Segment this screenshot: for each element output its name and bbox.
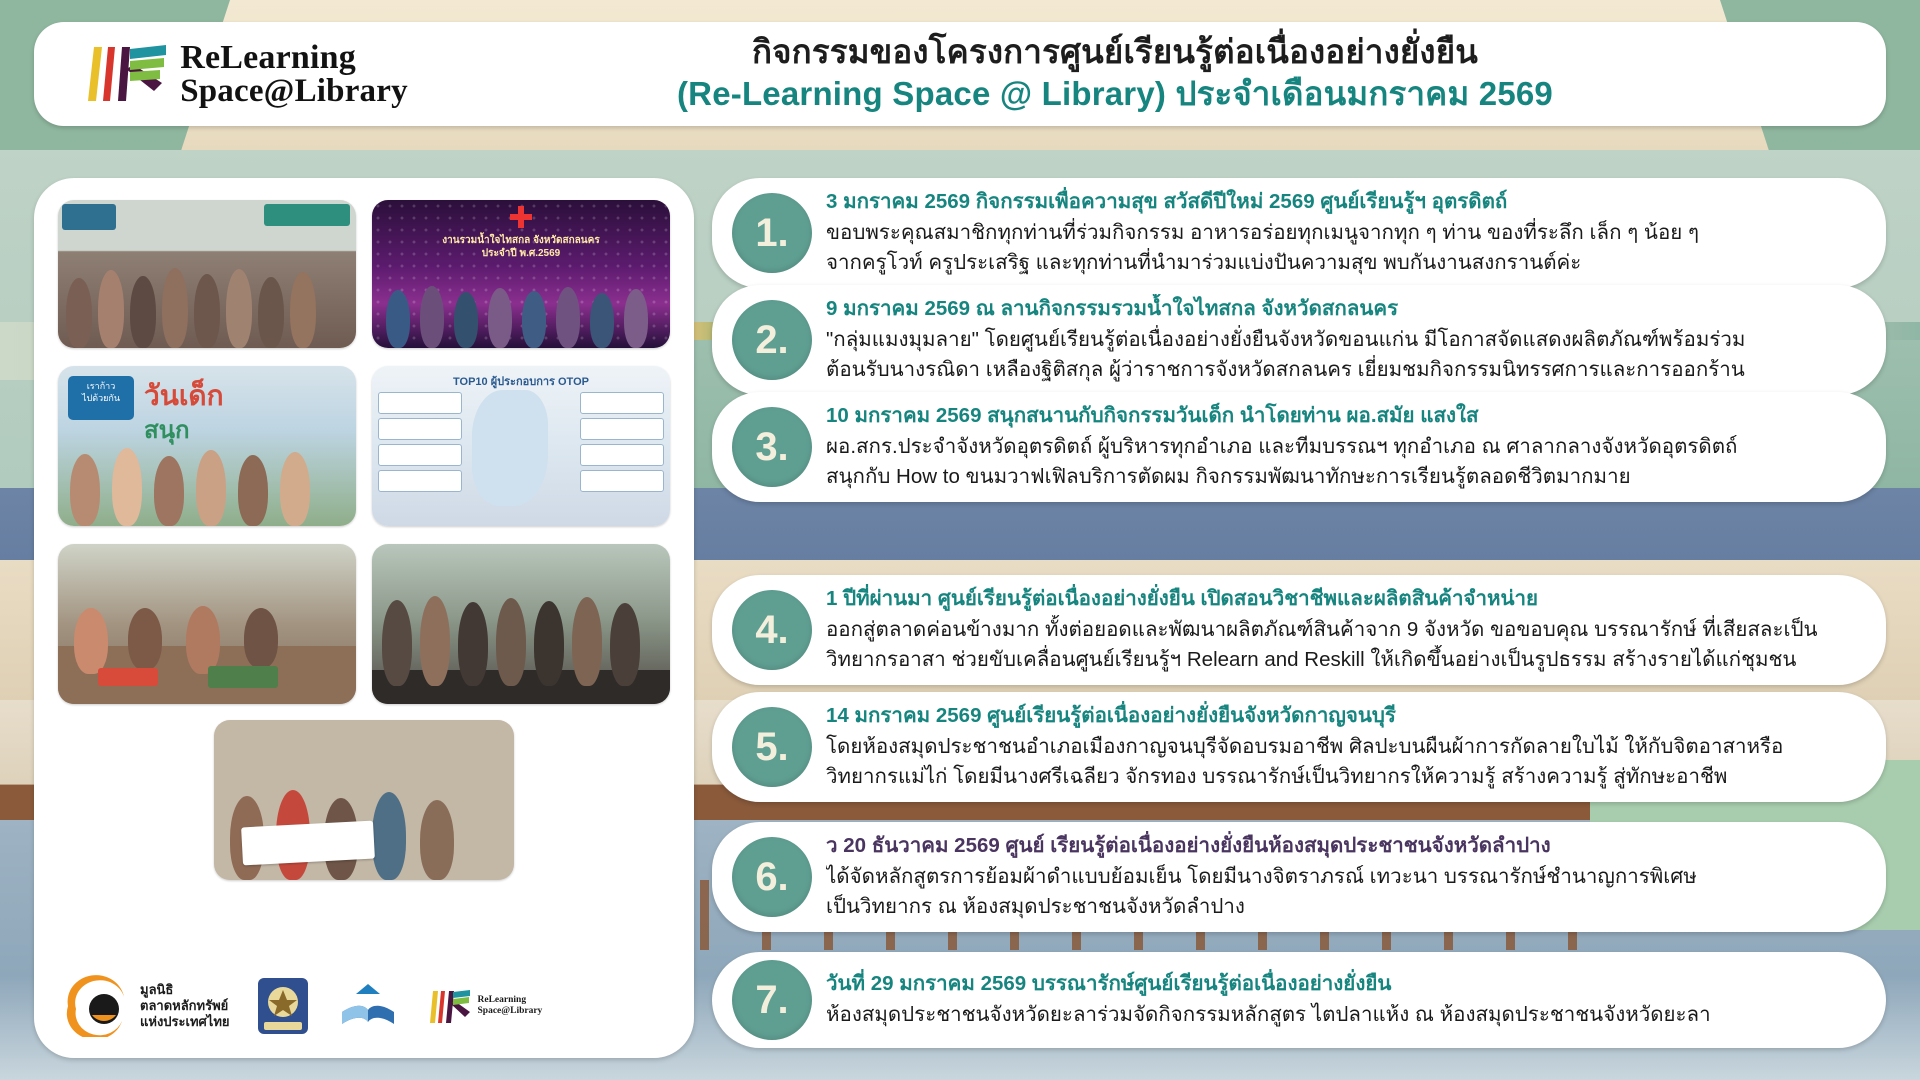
relearning-mini-l2: Space@Library bbox=[478, 1006, 543, 1017]
activity-card-2[interactable]: 2. 9 มกราคม 2569 ณ ลานกิจกรรมรวมน้ำใจไทส… bbox=[712, 285, 1886, 395]
activity-line-5-2: วิทยากรแม่ไก่ โดยมีนางศรีเฉลียว จักรทอง … bbox=[826, 762, 1856, 793]
photo-community-banner[interactable] bbox=[214, 720, 514, 880]
activity-body-2: 9 มกราคม 2569 ณ ลานกิจกรรมรวมน้ำใจไทสกล … bbox=[826, 294, 1856, 386]
activity-body-5: 14 มกราคม 2569 ศูนย์เรียนรู้ต่อเนื่องอย่… bbox=[826, 701, 1856, 793]
activity-line-4-2: วิทยากรอาสา ช่วยขับเคลื่อนศูนย์เรียนรู้ฯ… bbox=[826, 645, 1856, 676]
activity-body-6: ว 20 ธันวาคม 2569 ศูนย์ เรียนรู้ต่อเนื่อ… bbox=[826, 831, 1856, 923]
brand-logo: ReLearning Space@Library bbox=[34, 22, 454, 126]
royal-seal-logo bbox=[256, 976, 310, 1036]
activity-number-badge-6: 6. bbox=[732, 837, 812, 917]
activity-heading-5: 14 มกราคม 2569 ศูนย์เรียนรู้ต่อเนื่องอย่… bbox=[826, 701, 1856, 731]
brand-logo-line1: ReLearning bbox=[180, 41, 408, 75]
activity-body-3: 10 มกราคม 2569 สนุกสนานกับกิจกรรมวันเด็ก… bbox=[826, 401, 1856, 493]
activity-line-6-1: ได้จัดหลักสูตรการย้อมผ้าดำแบบย้อมเย็น โด… bbox=[826, 862, 1856, 893]
set-foundation-logo: มูลนิธิ ตลาดหลักทรัพย์ แห่งประเทศไทย bbox=[60, 975, 230, 1037]
royal-seal-icon bbox=[256, 976, 310, 1036]
activity-line-5-1: โดยห้องสมุดประชาชนอำเภอเมืองกาญจนบุรีจัด… bbox=[826, 732, 1856, 763]
photo-sakon-nakhon-stage[interactable]: งานรวมน้ำใจไทสกล จังหวัดสกลนครประจำปี พ.… bbox=[372, 200, 670, 348]
relearning-logo-icon bbox=[80, 39, 172, 109]
activity-number-badge-3: 3. bbox=[732, 407, 812, 487]
set-foundation-caption-l1: มูลนิธิ bbox=[140, 982, 230, 998]
photo-otop-infographic[interactable]: TOP10 ผู้ประกอบการ OTOP bbox=[372, 366, 670, 526]
activity-number-badge-1: 1. bbox=[732, 193, 812, 273]
activity-heading-4: 1 ปีที่ผ่านมา ศูนย์เรียนรู้ต่อเนื่องอย่า… bbox=[826, 584, 1856, 614]
activity-card-3[interactable]: 3. 10 มกราคม 2569 สนุกสนานกับกิจกรรมวันเ… bbox=[712, 392, 1886, 502]
photo-group-booth[interactable] bbox=[372, 544, 670, 704]
activity-heading-1: 3 มกราคม 2569 กิจกรรมเพื่อความสุข สวัสดี… bbox=[826, 187, 1856, 217]
activity-body-1: 3 มกราคม 2569 กิจกรรมเพื่อความสุข สวัสดี… bbox=[826, 187, 1856, 279]
relearning-space-logo: ReLearning Space@Library bbox=[426, 986, 543, 1026]
header-card: ReLearning Space@Library กิจกรรมของโครงก… bbox=[34, 22, 1886, 126]
page-subtitle: (Re-Learning Space @ Library) ประจำเดือน… bbox=[454, 74, 1776, 114]
relearning-logo-mini-caption: ReLearning Space@Library bbox=[478, 995, 543, 1017]
photo-workshop-craft[interactable] bbox=[58, 544, 356, 704]
activity-card-5[interactable]: 5. 14 มกราคม 2569 ศูนย์เรียนรู้ต่อเนื่อง… bbox=[712, 692, 1886, 802]
activity-heading-7: วันที่ 29 มกราคม 2569 บรรณารักษ์ศูนย์เรี… bbox=[826, 969, 1856, 999]
page-title: กิจกรรมของโครงการศูนย์เรียนรู้ต่อเนื่องอ… bbox=[454, 33, 1776, 72]
footer-logo-row: มูลนิธิ ตลาดหลักทรัพย์ แห่งประเทศไทย bbox=[60, 960, 670, 1052]
activity-heading-6: ว 20 ธันวาคม 2569 ศูนย์ เรียนรู้ต่อเนื่อ… bbox=[826, 831, 1856, 861]
activity-line-1-2: จากครูโวท์ ครูประเสริฐ และทุกท่านที่นำมา… bbox=[826, 248, 1856, 279]
activity-line-4-1: ออกสู่ตลาดค่อนข้างมาก ทั้งต่อยอดและพัฒนา… bbox=[826, 615, 1856, 646]
activity-heading-2: 9 มกราคม 2569 ณ ลานกิจกรรมรวมน้ำใจไทสกล … bbox=[826, 294, 1856, 324]
relearning-logo-mini-icon bbox=[426, 986, 470, 1026]
photo-new-year-group[interactable] bbox=[58, 200, 356, 348]
activity-card-7[interactable]: 7. วันที่ 29 มกราคม 2569 บรรณารักษ์ศูนย์… bbox=[712, 952, 1886, 1048]
activity-line-1-1: ขอบพระคุณสมาชิกทุกท่านที่ร่วมกิจกรรม อาห… bbox=[826, 218, 1856, 249]
activity-body-7: วันที่ 29 มกราคม 2569 บรรณารักษ์ศูนย์เรี… bbox=[826, 969, 1856, 1030]
activity-line-3-2: สนุกกับ How to ขนมวาฟเฟิลบริการตัดผม กิจ… bbox=[826, 462, 1856, 493]
set-foundation-caption: มูลนิธิ ตลาดหลักทรัพย์ แห่งประเทศไทย bbox=[140, 982, 230, 1031]
activity-number-badge-2: 2. bbox=[732, 300, 812, 380]
thai-health-foundation-logo bbox=[336, 976, 400, 1036]
activity-number-badge-4: 4. bbox=[732, 590, 812, 670]
activity-line-3-1: ผอ.สกร.ประจำจังหวัดอุตรดิตถ์ ผู้บริหารทุ… bbox=[826, 432, 1856, 463]
activity-line-7-1: ห้องสมุดประชาชนจังหวัดยะลาร่วมจัดกิจกรรม… bbox=[826, 1000, 1856, 1031]
brand-logo-text: ReLearning Space@Library bbox=[180, 41, 408, 108]
set-foundation-icon bbox=[60, 975, 132, 1037]
activity-body-4: 1 ปีที่ผ่านมา ศูนย์เรียนรู้ต่อเนื่องอย่า… bbox=[826, 584, 1856, 676]
thai-health-foundation-icon bbox=[336, 976, 400, 1036]
activity-line-2-2: ต้อนรับนางรณิดา เหลืองฐิติสกุล ผู้ว่าราช… bbox=[826, 355, 1856, 386]
photo-grid: งานรวมน้ำใจไทสกล จังหวัดสกลนครประจำปี พ.… bbox=[58, 200, 670, 704]
activity-number-badge-5: 5. bbox=[732, 707, 812, 787]
activity-line-2-1: "กลุ่มแมงมุมลาย" โดยศูนย์เรียนรู้ต่อเนื่… bbox=[826, 325, 1856, 356]
photo-gallery-panel: งานรวมน้ำใจไทสกล จังหวัดสกลนครประจำปี พ.… bbox=[34, 178, 694, 1058]
set-foundation-caption-l3: แห่งประเทศไทย bbox=[140, 1014, 230, 1030]
activity-number-badge-7: 7. bbox=[732, 960, 812, 1040]
brand-logo-line2: Space@Library bbox=[180, 75, 408, 108]
activity-line-6-2: เป็นวิทยากร ณ ห้องสมุดประชาชนจังหวัดลำปา… bbox=[826, 892, 1856, 923]
photo-childrens-day-banner[interactable]: เราก้าวไปด้วยกัน วันเด็ก สนุก bbox=[58, 366, 356, 526]
header-titles: กิจกรรมของโครงการศูนย์เรียนรู้ต่อเนื่องอ… bbox=[454, 33, 1886, 114]
relearning-mini-l1: ReLearning bbox=[478, 995, 543, 1006]
activity-heading-3: 10 มกราคม 2569 สนุกสนานกับกิจกรรมวันเด็ก… bbox=[826, 401, 1856, 431]
activity-card-6[interactable]: 6. ว 20 ธันวาคม 2569 ศูนย์ เรียนรู้ต่อเน… bbox=[712, 822, 1886, 932]
set-foundation-caption-l2: ตลาดหลักทรัพย์ bbox=[140, 998, 230, 1014]
activity-card-4[interactable]: 4. 1 ปีที่ผ่านมา ศูนย์เรียนรู้ต่อเนื่องอ… bbox=[712, 575, 1886, 685]
activity-card-1[interactable]: 1. 3 มกราคม 2569 กิจกรรมเพื่อความสุข สวั… bbox=[712, 178, 1886, 288]
